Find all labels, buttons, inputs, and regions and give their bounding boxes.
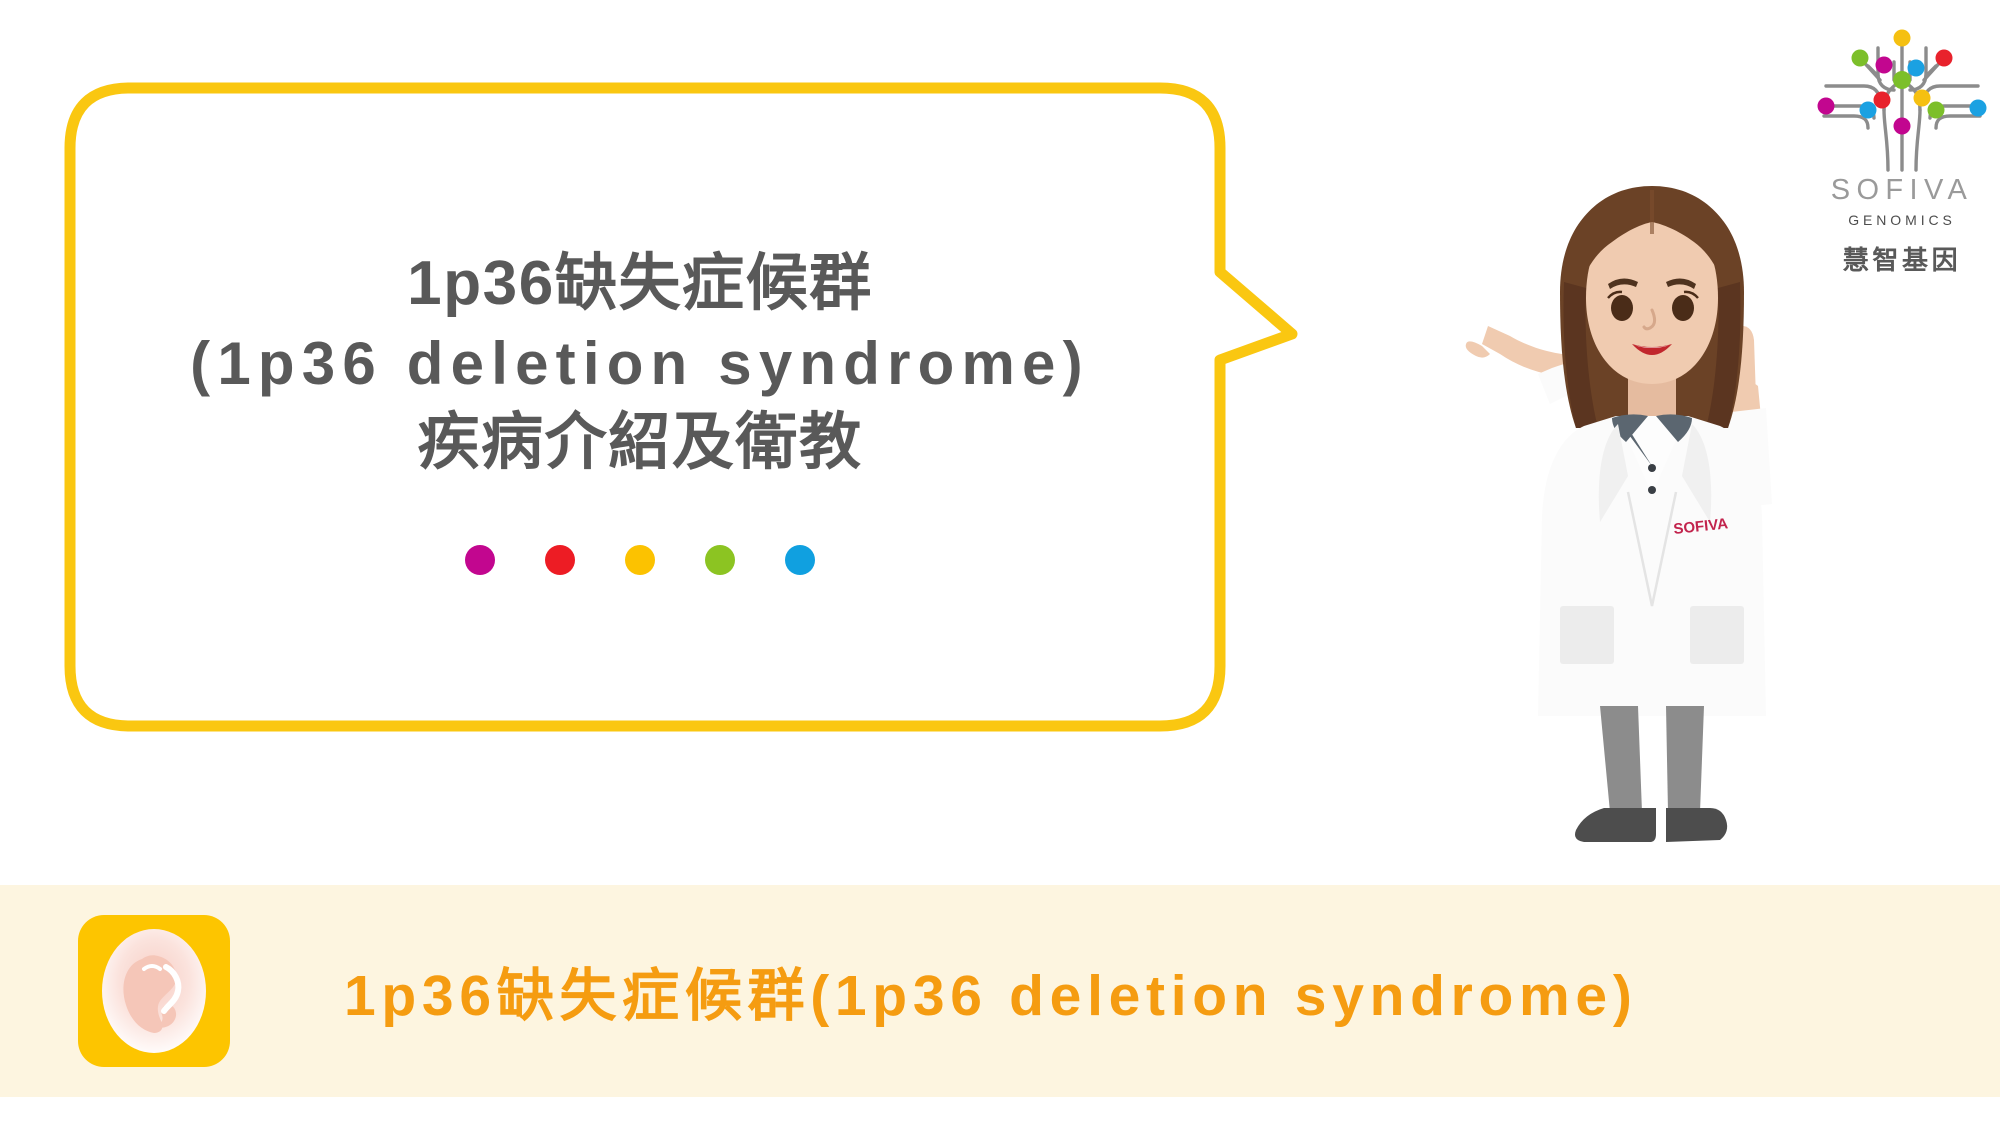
dot-magenta-icon	[465, 545, 495, 575]
doctor-shoe-left	[1575, 808, 1656, 842]
doctor-pocket-right	[1690, 606, 1744, 664]
title-line-3: 疾病介紹及衛教	[190, 403, 1090, 484]
tree-logo-icon	[1812, 18, 1992, 178]
logo-subbrand-text: GENOMICS	[1812, 212, 1992, 228]
tree-nodes	[1818, 30, 1987, 135]
title-line-1: 1p36缺失症候群	[190, 244, 1090, 325]
dot-green-icon	[705, 545, 735, 575]
banner-title: 1p36缺失症候群(1p36 deletion syndrome)	[344, 950, 1638, 1032]
logo-chinese-name: 慧智基因	[1812, 240, 1992, 277]
doctor-shoe-right	[1666, 808, 1727, 842]
sofiva-logo: SOFIVA GENOMICS 慧智基因	[1812, 18, 1992, 288]
decorative-dots	[465, 545, 815, 575]
dot-blue-icon	[785, 545, 815, 575]
logo-brand-text: SOFIVA	[1812, 174, 1992, 207]
fetus-icon-tile	[78, 915, 230, 1067]
doctor-illustration: SOFIVA	[1452, 176, 1852, 876]
doctor-eye-right	[1672, 295, 1694, 321]
fetus-icon	[94, 925, 214, 1057]
doctor-pocket-left	[1560, 606, 1614, 664]
slide-canvas: 1p36缺失症候群 (1p36 deletion syndrome) 疾病介紹及…	[0, 0, 2000, 1125]
speech-bubble: 1p36缺失症候群 (1p36 deletion syndrome) 疾病介紹及…	[60, 72, 1310, 752]
bottom-banner: 1p36缺失症候群(1p36 deletion syndrome)	[0, 885, 2000, 1097]
doctor-leg-right	[1666, 706, 1704, 812]
dot-red-icon	[545, 545, 575, 575]
title-block: 1p36缺失症候群 (1p36 deletion syndrome) 疾病介紹及…	[190, 244, 1090, 483]
dot-yellow-icon	[625, 545, 655, 575]
doctor-leg-left	[1600, 706, 1642, 812]
doctor-eye-left	[1611, 295, 1633, 321]
bubble-content: 1p36缺失症候群 (1p36 deletion syndrome) 疾病介紹及…	[60, 72, 1220, 737]
title-line-2: (1p36 deletion syndrome)	[190, 325, 1090, 403]
